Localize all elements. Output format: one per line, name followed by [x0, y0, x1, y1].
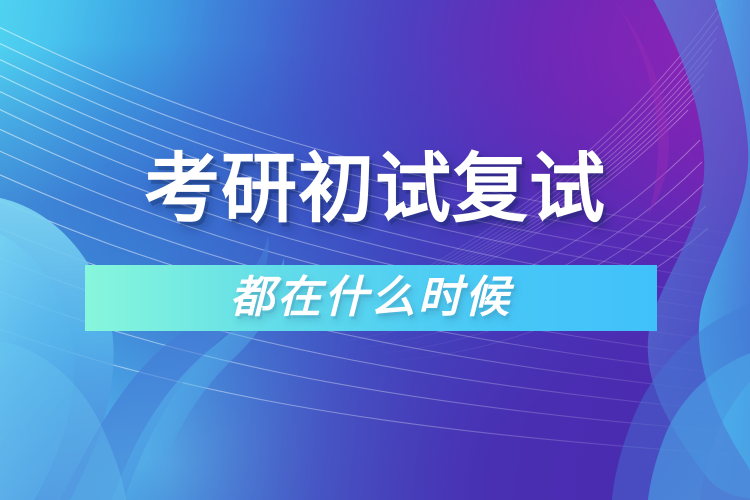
background-purple-top-glow [0, 0, 750, 500]
subtitle-text: 都在什么时候 [230, 276, 512, 320]
banner-image: 考研初试复试 都在什么时候 [0, 0, 750, 500]
subtitle-bar: 都在什么时候 [85, 265, 657, 331]
page-title: 考研初试复试 [0, 152, 750, 228]
